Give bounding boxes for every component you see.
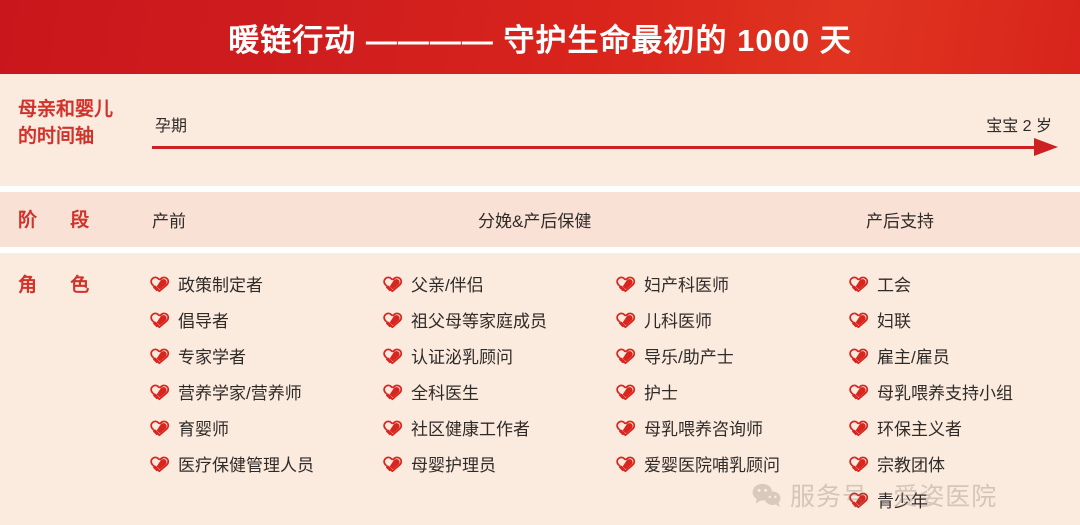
roles-column-1: 政策制定者倡导者专家学者营养学家/营养师育婴师医疗保健管理人员 <box>148 268 381 520</box>
role-item-label: 营养学家/营养师 <box>178 384 302 404</box>
role-item: 育婴师 <box>148 412 381 448</box>
role-item: 父亲/伴侣 <box>381 268 614 304</box>
role-item: 全科医生 <box>381 376 614 412</box>
role-item-label: 工会 <box>877 276 911 296</box>
timeline-row-label-line2: 的时间轴 <box>18 123 113 150</box>
role-item: 爱婴医院哺乳顾问 <box>614 448 847 484</box>
role-item-label: 爱婴医院哺乳顾问 <box>644 456 780 476</box>
role-item-label: 全科医生 <box>411 384 479 404</box>
role-item: 营养学家/营养师 <box>148 376 381 412</box>
role-item-label: 医疗保健管理人员 <box>178 456 314 476</box>
heart-hand-icon <box>614 420 636 440</box>
heart-hand-icon <box>847 420 869 440</box>
heart-hand-icon <box>381 384 403 404</box>
role-item: 母婴护理员 <box>381 448 614 484</box>
heart-hand-icon <box>847 348 869 368</box>
heart-hand-icon <box>381 456 403 476</box>
role-item-label: 青少年 <box>877 492 928 512</box>
timeline-end-label: 宝宝 2 岁 <box>986 112 1052 136</box>
role-item: 宗教团体 <box>847 448 1080 484</box>
role-item: 社区健康工作者 <box>381 412 614 448</box>
heart-hand-icon <box>381 312 403 332</box>
timeline-axis-line <box>152 146 1040 149</box>
stage-item-delivery: 分娩&产后保健 <box>478 207 591 232</box>
role-item: 妇联 <box>847 304 1080 340</box>
role-item: 认证泌乳顾问 <box>381 340 614 376</box>
roles-column-4: 工会妇联雇主/雇员母乳喂养支持小组环保主义者宗教团体青少年 <box>847 268 1080 520</box>
roles-row-label: 角 色 <box>18 272 103 299</box>
role-item: 政策制定者 <box>148 268 381 304</box>
role-item: 专家学者 <box>148 340 381 376</box>
arrow-right-icon <box>1034 138 1058 156</box>
role-item-label: 母婴护理员 <box>411 456 496 476</box>
role-item: 环保主义者 <box>847 412 1080 448</box>
heart-hand-icon <box>847 312 869 332</box>
heart-hand-icon <box>381 276 403 296</box>
role-item: 工会 <box>847 268 1080 304</box>
role-item: 祖父母等家庭成员 <box>381 304 614 340</box>
page-title: 暖链行动 ———— 守护生命最初的 1000 天 <box>0 0 1080 74</box>
heart-hand-icon <box>614 348 636 368</box>
heart-hand-icon <box>148 384 170 404</box>
role-item-label: 育婴师 <box>178 420 229 440</box>
role-item: 雇主/雇员 <box>847 340 1080 376</box>
role-item-label: 母乳喂养支持小组 <box>877 384 1013 404</box>
role-item: 倡导者 <box>148 304 381 340</box>
heart-hand-icon <box>148 312 170 332</box>
role-item: 青少年 <box>847 484 1080 520</box>
role-item: 导乐/助产士 <box>614 340 847 376</box>
role-item-label: 认证泌乳顾问 <box>411 348 513 368</box>
heart-hand-icon <box>847 492 869 512</box>
roles-column-3: 妇产科医师儿科医师导乐/助产士护士母乳喂养咨询师爱婴医院哺乳顾问 <box>614 268 847 520</box>
timeline-row-label-line1: 母亲和婴儿 <box>18 96 113 123</box>
timeline-start-label: 孕期 <box>155 112 187 136</box>
infographic-root: 暖链行动 ———— 守护生命最初的 1000 天 母亲和婴儿 的时间轴 孕期 宝… <box>0 0 1080 525</box>
heart-hand-icon <box>614 312 636 332</box>
heart-hand-icon <box>381 348 403 368</box>
heart-hand-icon <box>847 384 869 404</box>
role-item-label: 妇联 <box>877 312 911 332</box>
role-item: 护士 <box>614 376 847 412</box>
heart-hand-icon <box>614 456 636 476</box>
roles-column-2: 父亲/伴侣祖父母等家庭成员认证泌乳顾问全科医生社区健康工作者母婴护理员 <box>381 268 614 520</box>
role-item-label: 祖父母等家庭成员 <box>411 312 547 332</box>
role-item: 母乳喂养咨询师 <box>614 412 847 448</box>
role-item: 儿科医师 <box>614 304 847 340</box>
heart-hand-icon <box>381 420 403 440</box>
role-item-label: 雇主/雇员 <box>877 348 950 368</box>
role-item-label: 护士 <box>644 384 678 404</box>
role-item-label: 环保主义者 <box>877 420 962 440</box>
role-item: 妇产科医师 <box>614 268 847 304</box>
role-item-label: 妇产科医师 <box>644 276 729 296</box>
stage-item-postnatal: 产后支持 <box>866 207 934 232</box>
role-item-label: 导乐/助产士 <box>644 348 734 368</box>
role-item-label: 倡导者 <box>178 312 229 332</box>
heart-hand-icon <box>148 348 170 368</box>
role-item-label: 专家学者 <box>178 348 246 368</box>
role-item-label: 社区健康工作者 <box>411 420 530 440</box>
timeline-row-label: 母亲和婴儿 的时间轴 <box>18 96 113 150</box>
role-item-label: 母乳喂养咨询师 <box>644 420 763 440</box>
heart-hand-icon <box>148 456 170 476</box>
heart-hand-icon <box>847 456 869 476</box>
heart-hand-icon <box>847 276 869 296</box>
heart-hand-icon <box>148 420 170 440</box>
stage-item-prenatal: 产前 <box>152 207 186 232</box>
role-item: 母乳喂养支持小组 <box>847 376 1080 412</box>
role-item-label: 父亲/伴侣 <box>411 276 484 296</box>
role-item-label: 宗教团体 <box>877 456 945 476</box>
heart-hand-icon <box>614 276 636 296</box>
heart-hand-icon <box>614 384 636 404</box>
heart-hand-icon <box>148 276 170 296</box>
role-item-label: 政策制定者 <box>178 276 263 296</box>
role-item-label: 儿科医师 <box>644 312 712 332</box>
stage-row-label: 阶 段 <box>18 207 103 234</box>
role-item: 医疗保健管理人员 <box>148 448 381 484</box>
roles-grid: 政策制定者倡导者专家学者营养学家/营养师育婴师医疗保健管理人员父亲/伴侣祖父母等… <box>148 268 1080 520</box>
